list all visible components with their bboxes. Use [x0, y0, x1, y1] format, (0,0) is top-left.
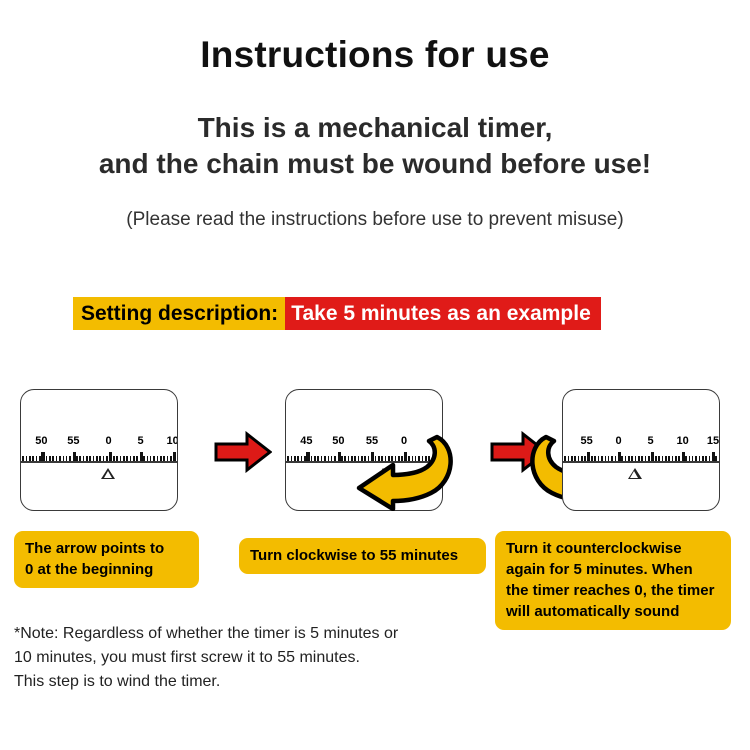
dial-2-scale-label: 45 [300, 436, 312, 447]
dial-tick-major [141, 452, 143, 461]
dial-2-scale-label: 50 [332, 436, 344, 447]
dial-tick-major [306, 452, 308, 461]
rotate-clockwise-arrow-icon [345, 433, 463, 511]
dial-tick-major [683, 452, 685, 461]
dial-scale-1: 50550510 [20, 436, 178, 464]
parenthetical-note: (Please read the instructions before use… [0, 209, 750, 231]
dial-ticks-3 [562, 450, 720, 461]
dial-tick-major [338, 452, 340, 461]
footnote-line-3: This step is to wind the timer. [14, 670, 534, 694]
dial-1-scale-label: 10 [166, 436, 178, 447]
dial-tick-major [587, 452, 589, 461]
dial-tick-major [619, 452, 621, 461]
subtitle-line-2: and the chain must be wound before use! [0, 146, 750, 182]
dial-scale-labels-3: 55051015 [562, 436, 720, 449]
dial-tick-major [109, 452, 111, 461]
subtitle: This is a mechanical timer, and the chai… [0, 110, 750, 182]
dial-scale-3: 55051015 [562, 436, 720, 464]
timer-dial-step-1: 50550510 [20, 389, 178, 511]
caption-line: again for 5 minutes. When [506, 559, 720, 580]
step-caption-3: Turn it counterclockwiseagain for 5 minu… [495, 531, 731, 630]
dial-ticks-1 [20, 450, 178, 461]
dial-1-scale-label: 0 [106, 436, 112, 447]
dial-tick-major [651, 452, 653, 461]
page-title: Instructions for use [0, 34, 750, 76]
timer-step-illustrations: 50550510 45505505 [0, 389, 750, 514]
caption-line: will automatically sound [506, 601, 720, 622]
step-caption-1: The arrow points to0 at the beginning [14, 531, 199, 588]
dial-tick-major [73, 452, 75, 461]
dial-tick-major [713, 452, 715, 461]
dial-tick-major [173, 452, 175, 461]
dial-1-scale-label: 50 [35, 436, 47, 447]
dial-3-scale-label: 55 [580, 436, 592, 447]
caption-line: Turn clockwise to 55 minutes [250, 545, 475, 566]
dial-scale-labels-1: 50550510 [20, 436, 178, 449]
dial-1-scale-label: 55 [67, 436, 79, 447]
timer-dial-step-3: 55051015 [562, 389, 720, 511]
footnote-line-2: 10 minutes, you must first screw it to 5… [14, 646, 534, 670]
banner-value: Take 5 minutes as an example [285, 297, 601, 330]
right-arrow-icon-1 [214, 431, 272, 473]
dial-3-scale-label: 0 [616, 436, 622, 447]
dial-1-scale-label: 5 [138, 436, 144, 447]
setting-description-banner: Setting description: Take 5 minutes as a… [73, 297, 601, 330]
dial-pointer-triangle-icon-1 [101, 468, 115, 479]
caption-line: 0 at the beginning [25, 559, 188, 580]
dial-pointer-triangle-icon-3 [628, 468, 642, 479]
footnote-line-1: *Note: Regardless of whether the timer i… [14, 622, 534, 646]
caption-line: the timer reaches 0, the timer [506, 580, 720, 601]
caption-line: The arrow points to [25, 538, 188, 559]
step-caption-2: Turn clockwise to 55 minutes [239, 538, 486, 574]
dial-3-scale-label: 15 [707, 436, 719, 447]
footnote: *Note: Regardless of whether the timer i… [14, 622, 534, 694]
dial-baseline-1 [20, 461, 178, 463]
dial-3-scale-label: 5 [648, 436, 654, 447]
dial-tick-major [41, 452, 43, 461]
subtitle-line-1: This is a mechanical timer, [198, 112, 553, 143]
banner-label: Setting description: [73, 297, 285, 330]
caption-line: Turn it counterclockwise [506, 538, 720, 559]
dial-3-scale-label: 10 [676, 436, 688, 447]
dial-baseline-3 [562, 461, 720, 463]
